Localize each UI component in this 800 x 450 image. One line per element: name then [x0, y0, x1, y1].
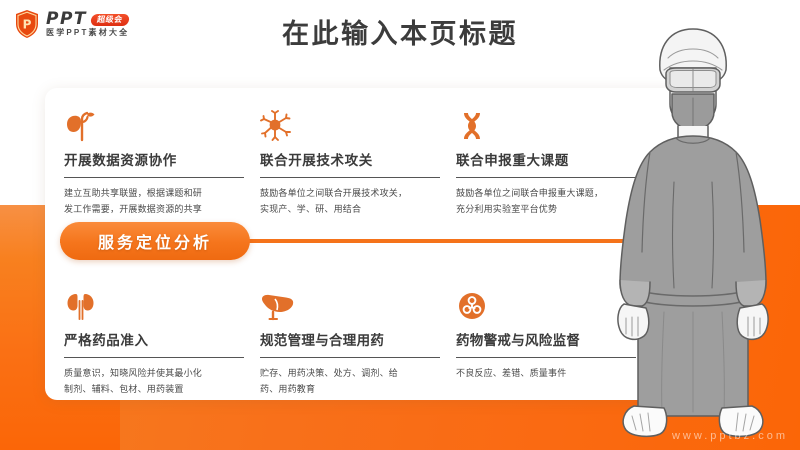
liver-icon: [260, 286, 445, 324]
item-title: 联合开展技术攻关: [260, 153, 445, 169]
item-block-3[interactable]: 严格药品准入 质量意识，知晓风险并使其最小化 制剂、辅料、包材、用药装置: [64, 286, 249, 398]
item-block-1[interactable]: 联合开展技术攻关 鼓励各单位之间联合开展技术攻关， 实现产、学、研、用结合: [260, 106, 445, 218]
item-description: 建立互助共享联盟，根据课题和研 发工作需要，开展数据资源的共享: [64, 186, 249, 218]
kidney-icon: [64, 286, 249, 324]
neuron-cell-icon: [260, 106, 445, 144]
section-banner-label: 服务定位分析: [98, 229, 212, 253]
item-divider: [260, 177, 440, 178]
item-description: 鼓励各单位之间联合开展技术攻关， 实现产、学、研、用结合: [260, 186, 445, 218]
item-title: 开展数据资源协作: [64, 153, 249, 169]
liver-sprout-icon: [64, 106, 249, 144]
item-title: 规范管理与合理用药: [260, 333, 445, 349]
item-divider: [64, 357, 244, 358]
section-banner[interactable]: 服务定位分析: [60, 222, 250, 260]
item-description: 质量意识，知晓风险并使其最小化 制剂、辅料、包材、用药装置: [64, 366, 249, 398]
medical-worker-illustration: [598, 12, 790, 440]
item-block-0[interactable]: 开展数据资源协作 建立互助共享联盟，根据课题和研 发工作需要，开展数据资源的共享: [64, 106, 249, 218]
item-block-4[interactable]: 规范管理与合理用药 贮存、用药决策、处方、调剂、给 药、用药教育: [260, 286, 445, 398]
item-divider: [64, 177, 244, 178]
slide-canvas: P PPT 超级会 医学PPT素材大全 在此输入本页标题 开展: [0, 0, 800, 450]
watermark: www.pptbz.com: [672, 430, 788, 442]
item-description: 贮存、用药决策、处方、调剂、给 药、用药教育: [260, 366, 445, 398]
item-divider: [260, 357, 440, 358]
item-title: 严格药品准入: [64, 333, 249, 349]
